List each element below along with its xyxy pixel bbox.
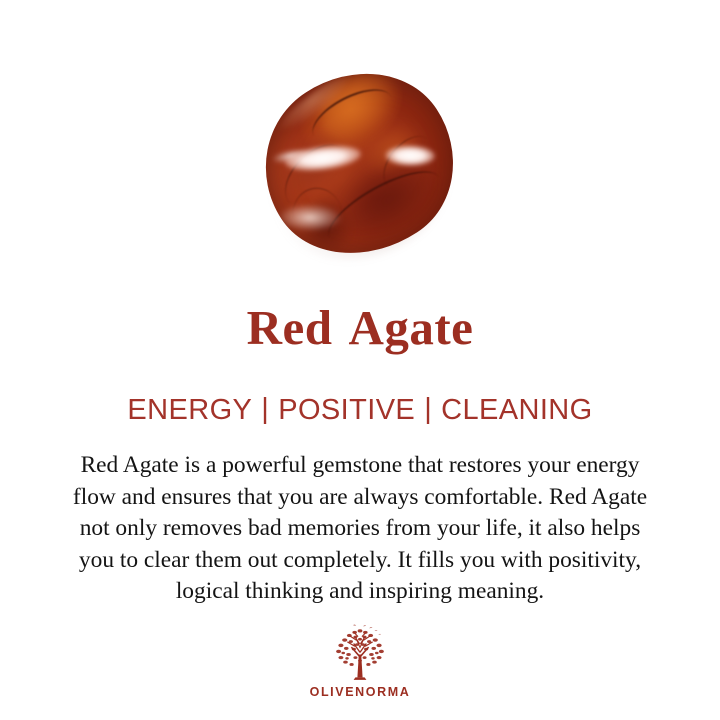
page-title: RedAgate [0, 303, 720, 352]
description-line: not only removes bad memories from your … [22, 513, 698, 545]
brand-logo: OLIVENORMA [0, 624, 720, 699]
keyword-separator: | [261, 395, 269, 424]
keyword-cleaning: CLEANING [441, 394, 592, 426]
title-word-agate: Agate [348, 300, 473, 355]
brand-name: OLIVENORMA [0, 685, 720, 699]
description-line: logical thinking and inspiring meaning. [22, 576, 698, 608]
stone-specular-highlight [385, 145, 435, 165]
description-line: Red Agate is a powerful gemstone that re… [22, 450, 698, 482]
red-agate-stone-image [258, 67, 460, 267]
stone-rim-light [277, 202, 342, 232]
stone-body [231, 38, 487, 291]
keyword-energy: ENERGY [127, 394, 252, 426]
description-line: flow and ensures that you are always com… [22, 482, 698, 514]
title-word-red: Red [247, 300, 333, 355]
keyword-list: ENERGY|POSITIVE|CLEANING [0, 396, 720, 425]
description-paragraph: Red Agate is a powerful gemstone that re… [22, 450, 698, 608]
keyword-positive: POSITIVE [278, 394, 415, 426]
product-info-card: RedAgate ENERGY|POSITIVE|CLEANING Red Ag… [0, 0, 720, 720]
tree-icon [321, 624, 399, 682]
product-image-area [0, 55, 720, 280]
keyword-separator: | [424, 395, 432, 424]
description-line: you to clear them out completely. It fil… [22, 545, 698, 577]
